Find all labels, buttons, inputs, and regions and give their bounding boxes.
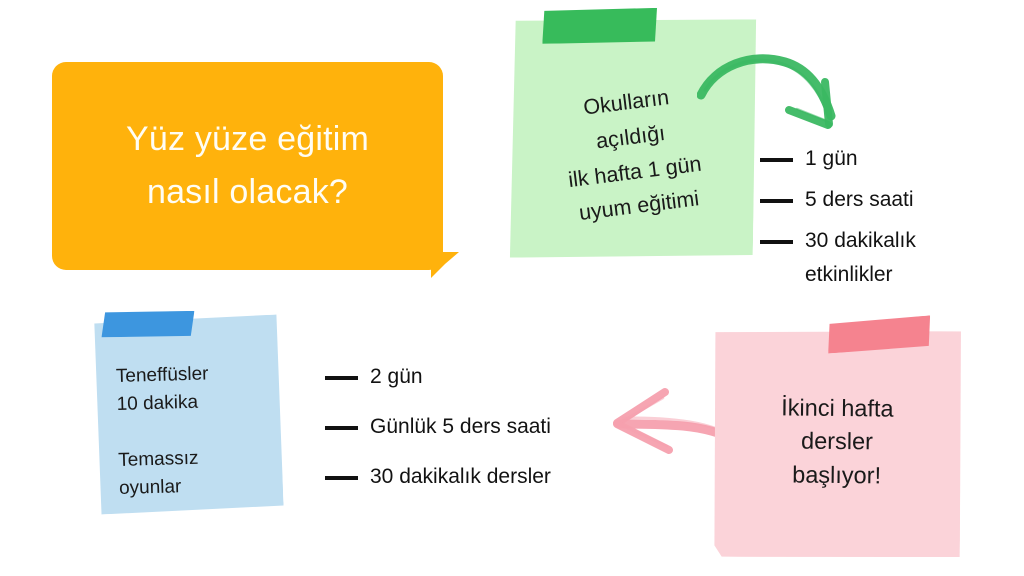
list-item: 5 ders saati <box>760 183 916 217</box>
dash-bullet-icon <box>760 199 793 203</box>
list-item-label: Günlük 5 ders saati <box>370 410 551 444</box>
list-item-label: 30 dakikalık etkinlikler <box>805 224 916 292</box>
tape-strip-blue-icon <box>101 311 194 337</box>
sticky-note-pink-text: İkinci hafta dersler başlıyor! <box>727 391 948 493</box>
dash-bullet-icon <box>760 240 793 244</box>
list-item: 30 dakikalık dersler <box>325 460 551 494</box>
question-speech-bubble: Yüz yüze eğitim nasıl olacak? <box>52 62 443 270</box>
list-item-label: 1 gün <box>805 142 858 176</box>
dash-bullet-icon <box>325 376 358 380</box>
sticky-note-blue: Teneffüsler 10 dakika Temassız oyunlar <box>93 314 283 514</box>
sticky-note-pink: İkinci hafta dersler başlıyor! <box>712 329 962 560</box>
dash-bullet-icon <box>325 476 358 480</box>
curved-arrow-green-icon <box>697 38 853 150</box>
list-item-label: 5 ders saati <box>805 183 914 217</box>
list-item: Günlük 5 ders saati <box>325 410 551 444</box>
speech-bubble-tail-icon <box>431 252 459 278</box>
list-item: 2 gün <box>325 360 551 394</box>
question-text: Yüz yüze eğitim nasıl olacak? <box>52 62 443 270</box>
schedule-list-week-one: 1 gün 5 ders saati 30 dakikalık etkinlik… <box>760 142 916 299</box>
list-item-label: 30 dakikalık dersler <box>370 460 551 494</box>
tape-strip-green-icon <box>542 8 657 44</box>
list-item-label: 2 gün <box>370 360 423 394</box>
schedule-list-week-two: 2 gün Günlük 5 ders saati 30 dakikalık d… <box>325 360 551 510</box>
dash-bullet-icon <box>325 426 358 430</box>
sticky-note-blue-text: Teneffüsler 10 dakika Temassız oyunlar <box>116 359 275 504</box>
list-item: 30 dakikalık etkinlikler <box>760 224 916 292</box>
dash-bullet-icon <box>760 158 793 162</box>
list-item: 1 gün <box>760 142 916 176</box>
